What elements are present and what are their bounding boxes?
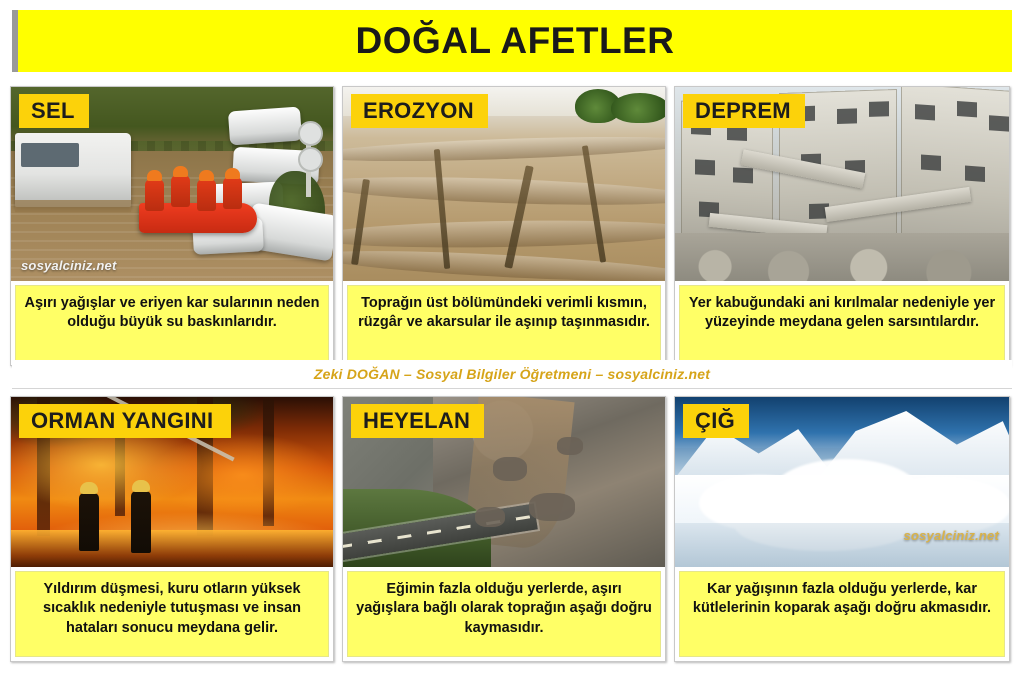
photo-avalanche: sosyalciniz.net ÇIĞ [675, 397, 1009, 567]
card-cig: sosyalciniz.net ÇIĞ Kar yağışının fazla … [674, 396, 1010, 662]
card-label-deprem: DEPREM [683, 94, 805, 128]
firefighter-shape [131, 491, 151, 553]
soil-ridge-shape [343, 172, 665, 209]
tree-shape [611, 93, 665, 123]
card-caption-sel: Aşırı yağışlar ve eriyen kar sularının n… [15, 285, 329, 361]
credit-text: Zeki DOĞAN – Sosyal Bilgiler Öğretmeni –… [314, 366, 710, 382]
card-caption-erozyon: Toprağın üst bölümündeki verimli kısmın,… [347, 285, 661, 361]
sign-pole-shape [306, 123, 311, 197]
photo-erosion: EROZYON [343, 87, 665, 281]
card-sel: sosyalciniz.net SEL Aşırı yağışlar ve er… [10, 86, 334, 366]
truck-shape [15, 133, 131, 207]
rescue-crew-shape [145, 171, 253, 211]
card-caption-deprem: Yer kabuğundaki ani kırılmalar nedeniyle… [679, 285, 1005, 361]
watermark: sosyalciniz.net [904, 528, 999, 543]
card-label-heyelan: HEYELAN [351, 404, 484, 438]
firefighter-shape [79, 493, 99, 551]
title-bar: DOĞAL AFETLER [18, 10, 1012, 72]
credit-bar: Zeki DOĞAN – Sosyal Bilgiler Öğretmeni –… [12, 360, 1012, 389]
card-label-erozyon: EROZYON [351, 94, 488, 128]
page-title: DOĞAL AFETLER [356, 20, 675, 62]
card-label-sel: SEL [19, 94, 89, 128]
card-caption-heyelan: Eğimin fazla olduğu yerlerde, aşırı yağı… [347, 571, 661, 657]
photo-flood: sosyalciniz.net SEL [11, 87, 333, 281]
photo-earthquake: DEPREM [675, 87, 1009, 281]
card-label-orman-yangini: ORMAN YANGINI [19, 404, 231, 438]
card-label-cig: ÇIĞ [683, 404, 749, 438]
photo-landslide: HEYELAN [343, 397, 665, 567]
car-shape [228, 107, 302, 146]
card-erozyon: EROZYON Toprağın üst bölümündeki verimli… [342, 86, 666, 366]
card-caption-orman-yangini: Yıldırım düşmesi, kuru otların yüksek sı… [15, 571, 329, 657]
card-orman-yangini: ORMAN YANGINI Yıldırım düşmesi, kuru otl… [10, 396, 334, 662]
title-banner: DOĞAL AFETLER [12, 10, 1012, 72]
rock-debris-shape [493, 457, 527, 481]
soil-ridge-shape [343, 132, 665, 165]
rock-debris-shape [475, 507, 505, 527]
soil-crack-shape [434, 149, 450, 269]
card-deprem: DEPREM Yer kabuğundaki ani kırılmalar ne… [674, 86, 1010, 366]
card-caption-cig: Kar yağışının fazla olduğu yerlerde, kar… [679, 571, 1005, 657]
infographic-page: DOĞAL AFETLER sosyalciniz.net SEL [0, 0, 1024, 682]
soil-ridge-shape [343, 218, 665, 251]
card-heyelan: HEYELAN Eğimin fazla olduğu yerlerde, aş… [342, 396, 666, 662]
rock-debris-shape [557, 437, 583, 455]
photo-forest-fire: ORMAN YANGINI [11, 397, 333, 567]
card-row-top: sosyalciniz.net SEL Aşırı yağışlar ve er… [0, 86, 1010, 366]
burning-ground-shape [11, 530, 333, 567]
watermark: sosyalciniz.net [21, 258, 116, 273]
rock-debris-shape [529, 493, 575, 521]
card-row-bottom: ORMAN YANGINI Yıldırım düşmesi, kuru otl… [0, 396, 1010, 662]
rubble-shape [675, 233, 1009, 281]
